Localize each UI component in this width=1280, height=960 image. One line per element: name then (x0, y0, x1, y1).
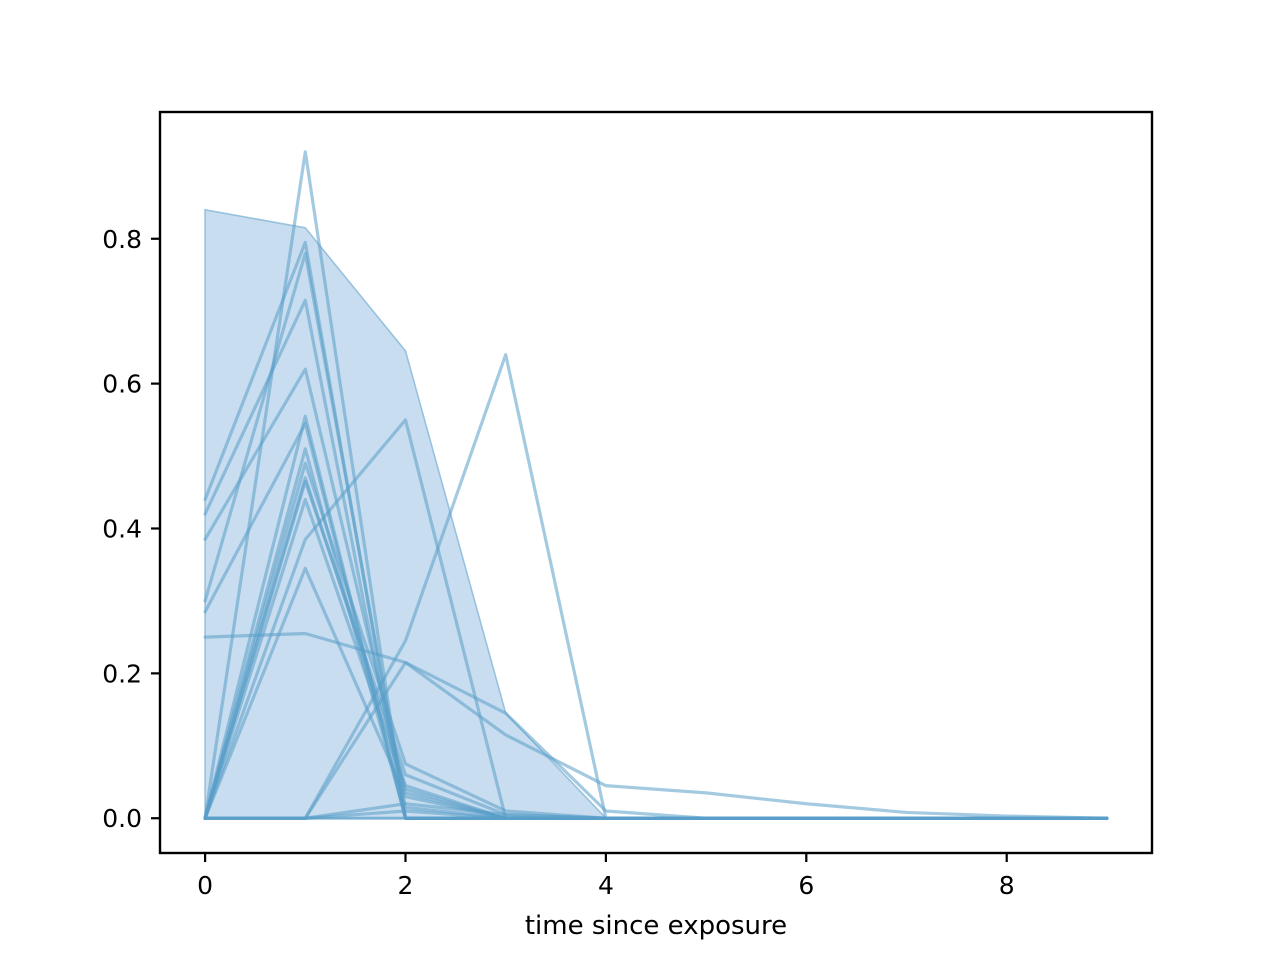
y-tick-label: 0.4 (102, 514, 142, 543)
y-tick-label: 0.2 (102, 659, 142, 688)
chart-background (0, 0, 1280, 960)
x-tick-label: 2 (398, 871, 414, 900)
line-chart: 024680.00.20.40.60.8 time since exposure (0, 0, 1280, 960)
x-tick-label: 4 (598, 871, 614, 900)
y-tick-label: 0.8 (102, 225, 142, 254)
figure-canvas: 024680.00.20.40.60.8 time since exposure (0, 0, 1280, 960)
x-tick-label: 0 (197, 871, 213, 900)
x-tick-label: 6 (798, 871, 814, 900)
x-tick-label: 8 (999, 871, 1015, 900)
y-tick-label: 0.0 (102, 804, 142, 833)
y-tick-label: 0.6 (102, 370, 142, 399)
x-axis-title: time since exposure (525, 911, 787, 941)
